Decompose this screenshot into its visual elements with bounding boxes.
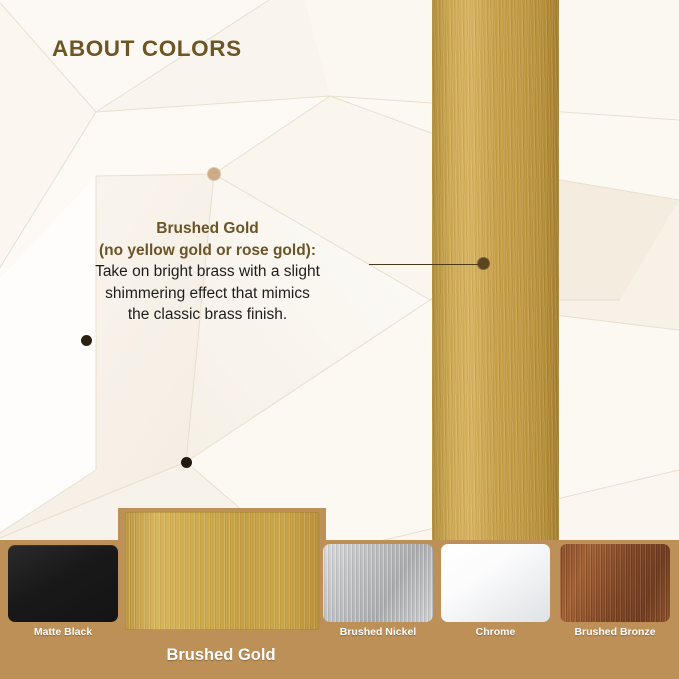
callout-leader-dot-icon xyxy=(478,258,489,269)
vertex-dot-dark-upper-icon xyxy=(81,335,92,346)
callout-text-block: Brushed Gold (no yellow gold or rose gol… xyxy=(45,219,370,326)
swatch-label-brushed-bronze: Brushed Bronze xyxy=(552,626,678,638)
page-title: ABOUT COLORS xyxy=(52,36,242,62)
callout-highlight-line-1: Brushed Gold xyxy=(45,219,370,240)
callout-body-line-3: the classic brass finish. xyxy=(45,305,370,326)
brushed-gold-column xyxy=(432,0,559,545)
vertex-dot-tan-icon xyxy=(208,168,220,180)
swatch-label-matte-black: Matte Black xyxy=(8,626,118,638)
swatch-label-brushed-gold: Brushed Gold xyxy=(110,646,332,665)
swatch-brushed-nickel[interactable] xyxy=(323,544,433,622)
callout-body-line-2: shimmering effect that mimics xyxy=(45,284,370,305)
callout-highlight-line-2: (no yellow gold or rose gold): xyxy=(45,241,370,262)
swatch-matte-black[interactable] xyxy=(8,545,118,622)
swatch-brushed-bronze[interactable] xyxy=(560,544,670,622)
callout-body-line-1: Take on bright brass with a slight xyxy=(45,262,370,283)
vertex-dot-dark-lower-icon xyxy=(181,457,192,468)
about-colors-infographic: ABOUT COLORS Brushed Gold (no yellow gol… xyxy=(0,0,679,679)
swatch-label-chrome: Chrome xyxy=(441,626,550,638)
swatch-label-brushed-nickel: Brushed Nickel xyxy=(318,626,438,638)
swatch-chrome[interactable] xyxy=(441,544,550,622)
callout-leader-line xyxy=(369,264,485,265)
swatch-brushed-gold[interactable] xyxy=(124,512,320,630)
